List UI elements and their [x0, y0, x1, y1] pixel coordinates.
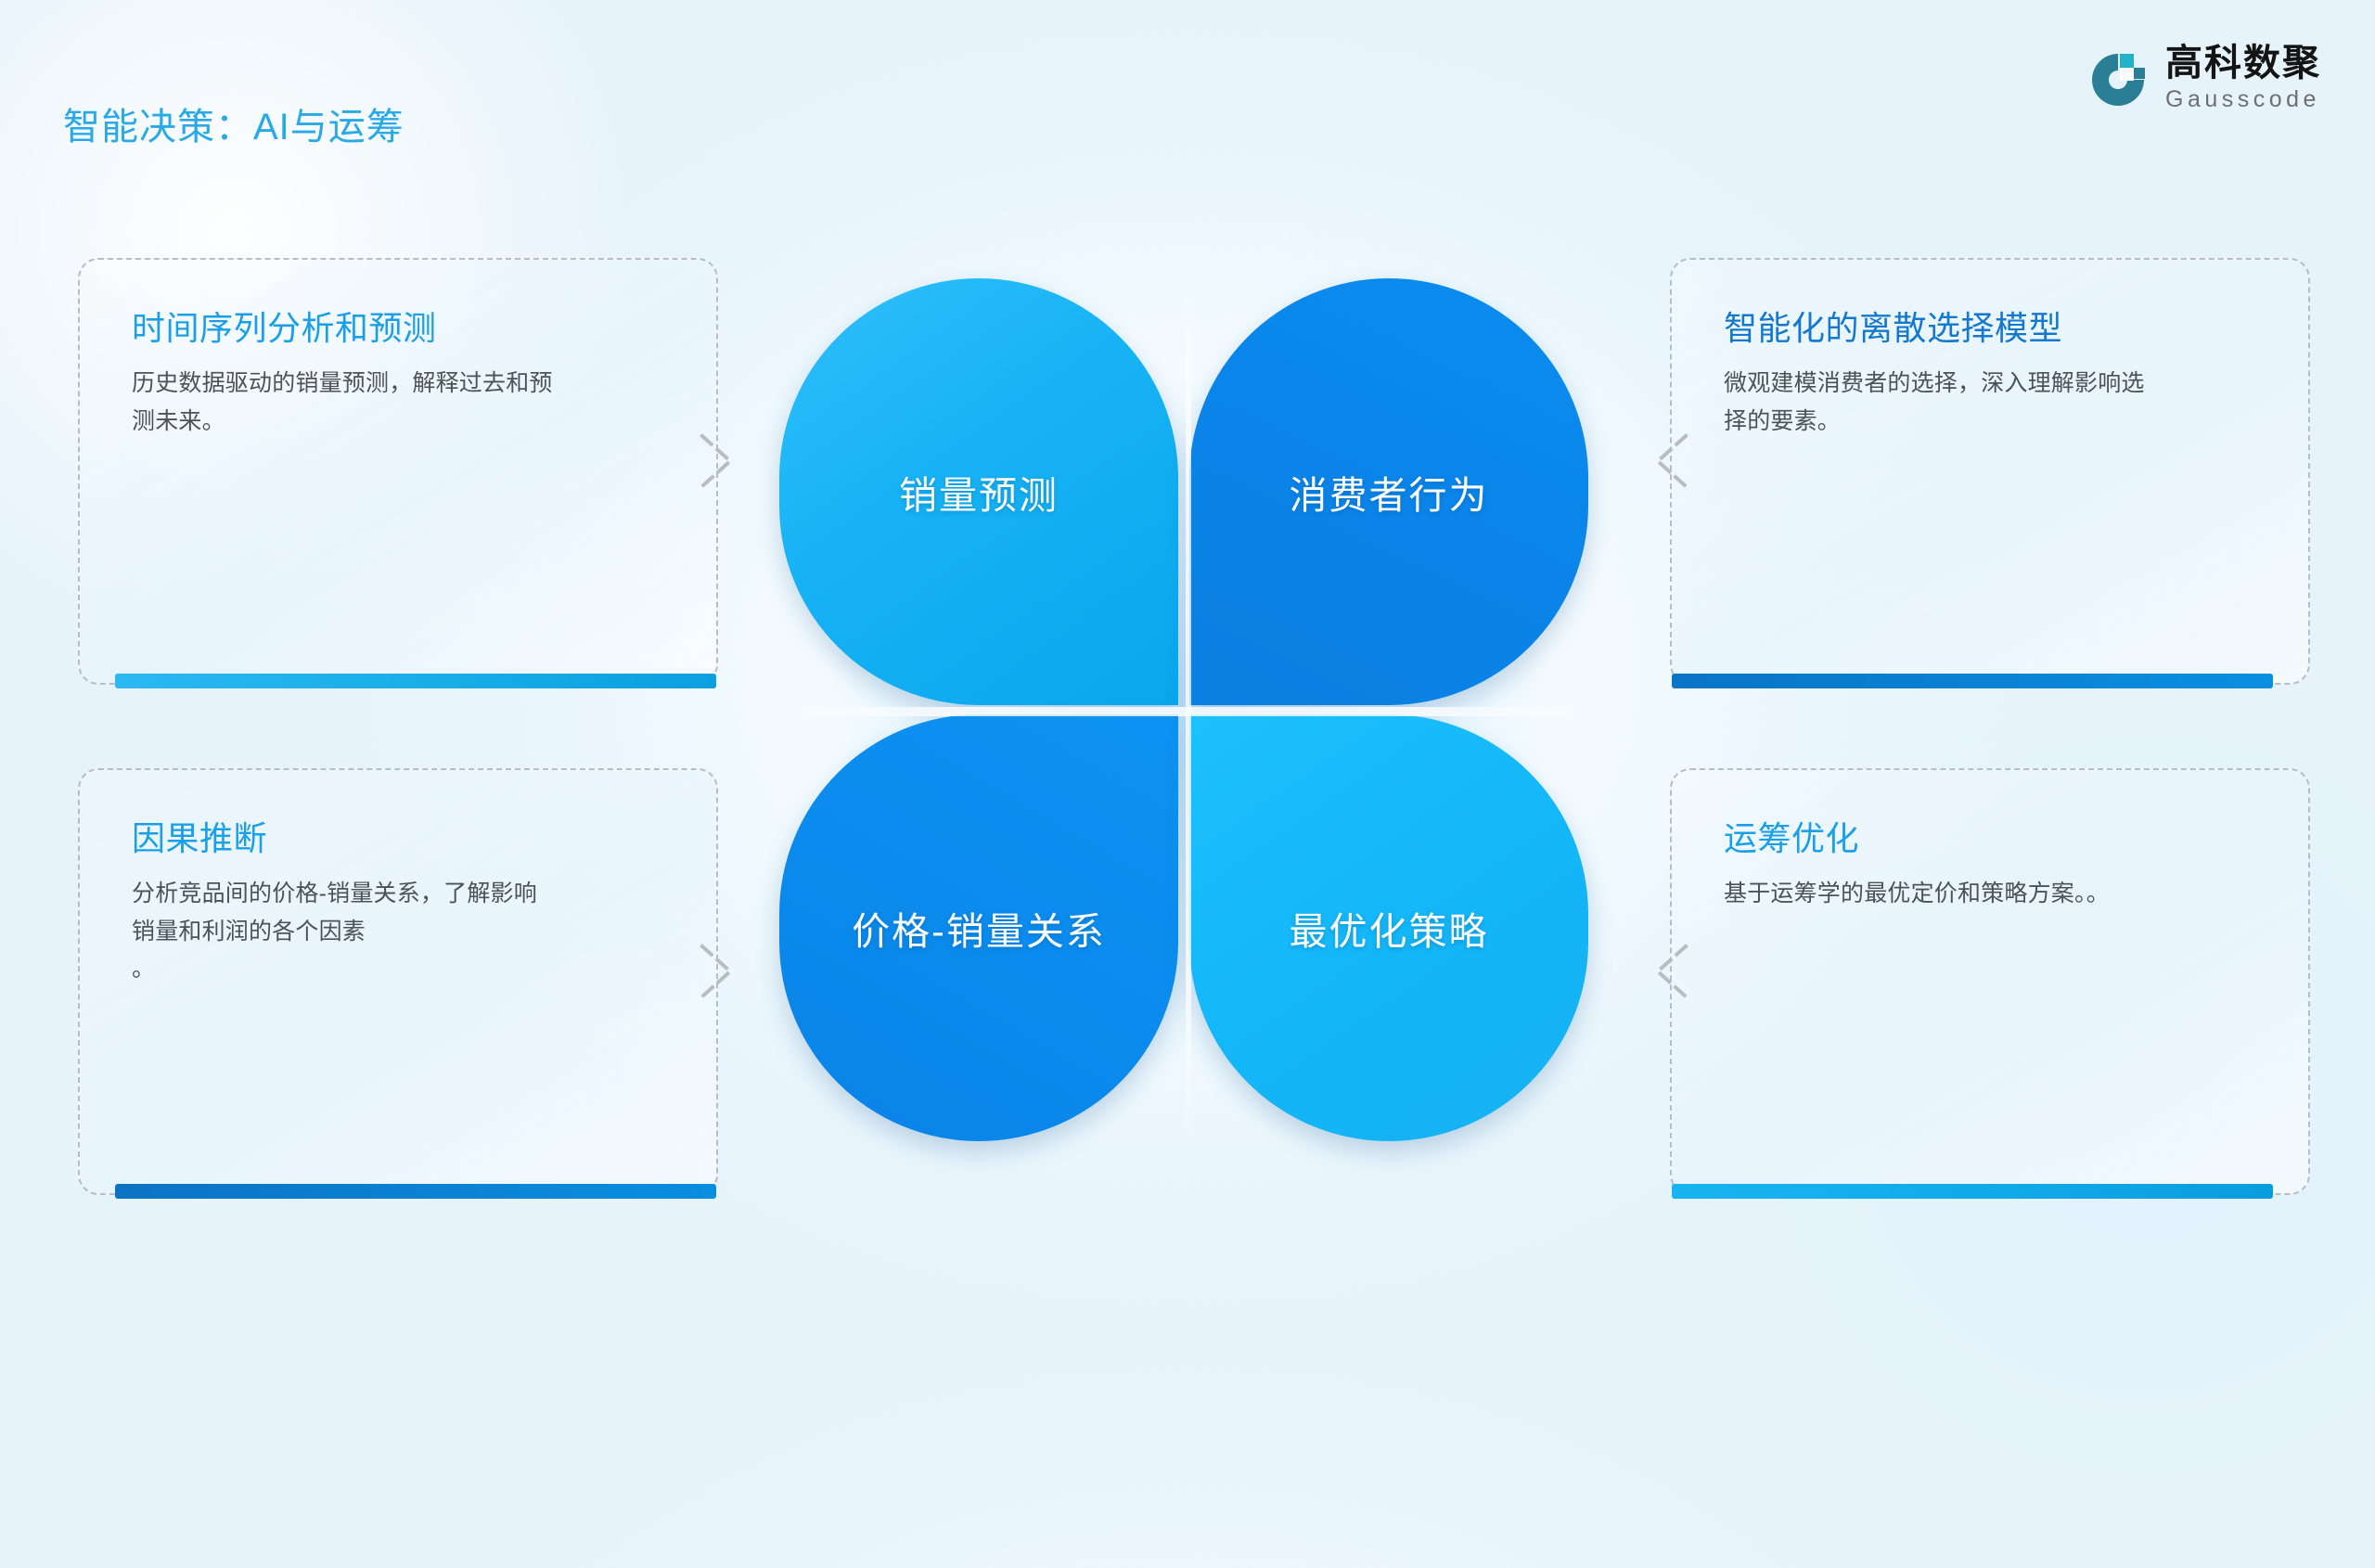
- brand-logo: 高科数聚 Gausscode: [2087, 45, 2321, 114]
- card-body: 历史数据驱动的销量预测，解释过去和预 测未来。: [132, 365, 664, 440]
- petal-optimal-strategy[interactable]: 最优化策略: [1189, 714, 1588, 1141]
- card-causal-inference[interactable]: 因果推断 分析竞品间的价格-销量关系，了解影响 销量和利润的各个因素 。: [78, 768, 718, 1195]
- card-title: 时间序列分析和预测: [132, 308, 664, 348]
- petal-label: 价格-销量关系: [852, 900, 1106, 956]
- logo-text: 高科数聚 Gausscode: [2165, 45, 2321, 114]
- card-accent-bar: [1672, 1184, 2273, 1199]
- gausscode-logo-icon: [2087, 49, 2149, 110]
- card-body: 分析竞品间的价格-销量关系，了解影响 销量和利润的各个因素 。: [132, 875, 664, 988]
- petal-sales-forecast[interactable]: 销量预测: [779, 278, 1178, 705]
- petal-label: 最优化策略: [1290, 900, 1489, 956]
- card-body: 微观建模消费者的选择，深入理解影响选 择的要素。: [1724, 365, 2256, 440]
- petal-label: 销量预测: [899, 464, 1059, 520]
- card-body: 基于运筹学的最优定价和策略方案。。: [1724, 875, 2256, 913]
- card-title: 因果推断: [132, 818, 664, 858]
- card-time-series[interactable]: 时间序列分析和预测 历史数据驱动的销量预测，解释过去和预 测未来。: [78, 258, 718, 685]
- chevron-right-icon: [695, 935, 739, 1008]
- flower-diagram: 销量预测 消费者行为 价格-销量关系 最优化策略: [779, 278, 1596, 1150]
- logo-name-en: Gausscode: [2165, 85, 2321, 114]
- chevron-left-icon: [1649, 935, 1693, 1008]
- chevron-right-icon: [695, 425, 739, 497]
- card-title: 运筹优化: [1724, 818, 2256, 858]
- chevron-left-icon: [1649, 425, 1693, 497]
- card-discrete-choice[interactable]: 智能化的离散选择模型 微观建模消费者的选择，深入理解影响选 择的要素。: [1670, 258, 2310, 685]
- petal-consumer-behavior[interactable]: 消费者行为: [1189, 278, 1588, 705]
- card-accent-bar: [115, 674, 716, 688]
- logo-name-cn: 高科数聚: [2165, 45, 2321, 82]
- page-title: 智能决策：AI与运筹: [63, 96, 404, 150]
- petal-label: 消费者行为: [1290, 464, 1489, 520]
- petal-price-volume[interactable]: 价格-销量关系: [779, 714, 1178, 1141]
- card-title: 智能化的离散选择模型: [1724, 308, 2256, 348]
- card-accent-bar: [115, 1184, 716, 1199]
- card-operations-research[interactable]: 运筹优化 基于运筹学的最优定价和策略方案。。: [1670, 768, 2310, 1195]
- petal-seam-horizontal: [779, 707, 1596, 716]
- card-accent-bar: [1672, 674, 2273, 688]
